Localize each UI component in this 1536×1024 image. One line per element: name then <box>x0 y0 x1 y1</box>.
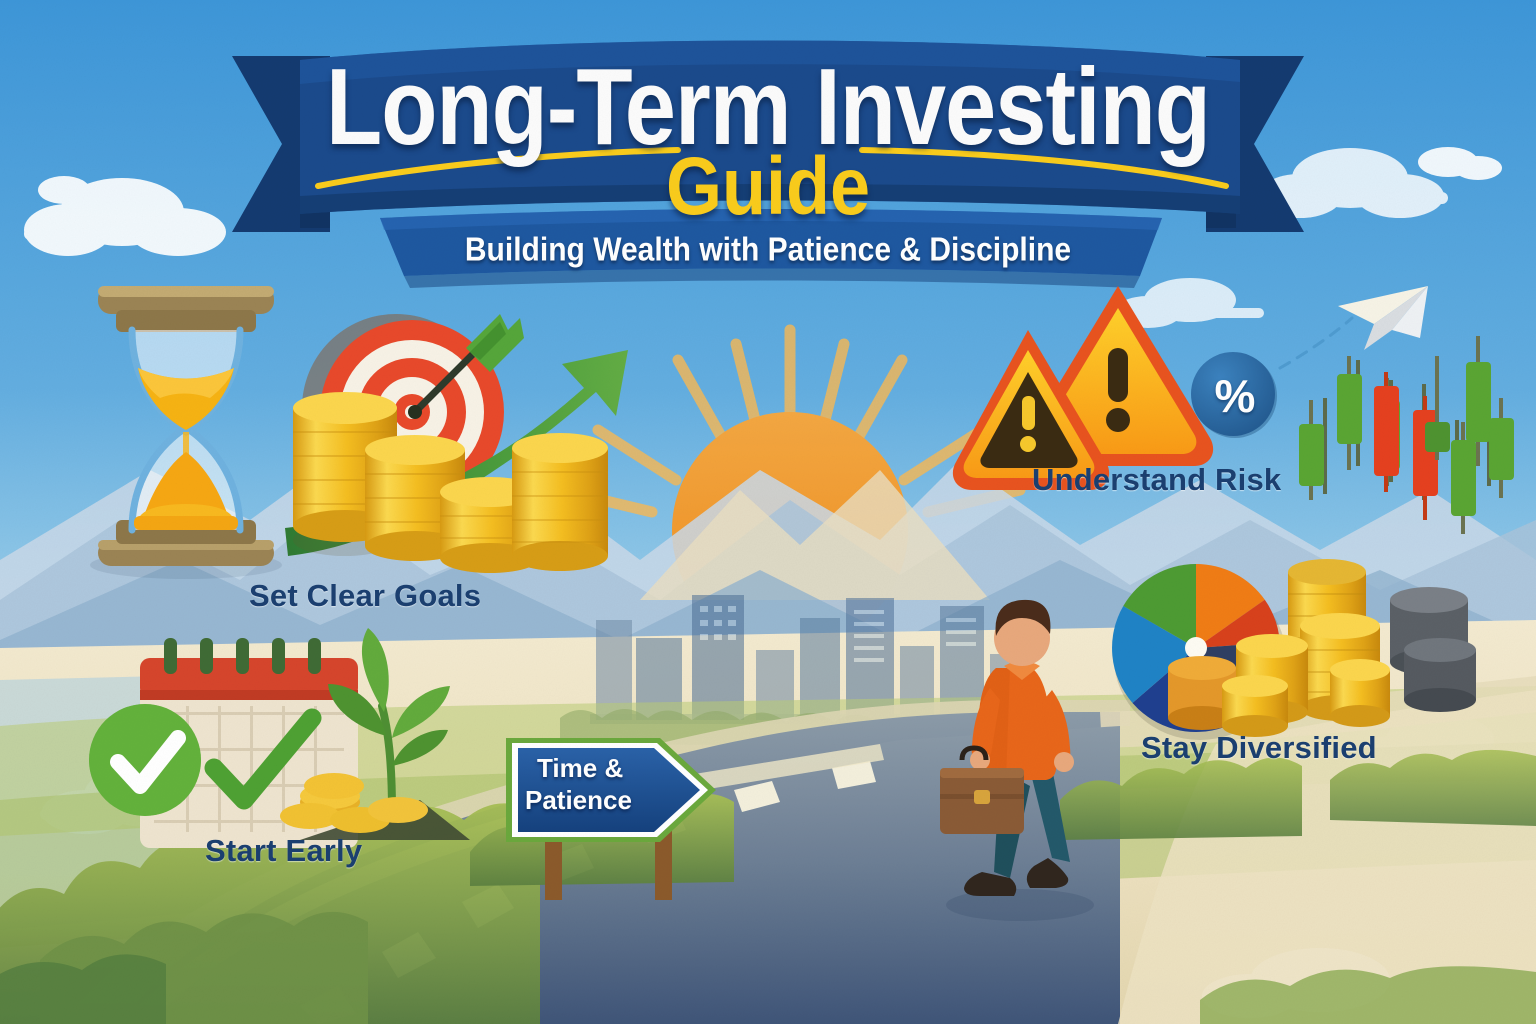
paper-grain-overlay <box>0 0 1536 1024</box>
infographic-canvas: Long-Term Investing Guide Building Wealt… <box>0 0 1536 1024</box>
